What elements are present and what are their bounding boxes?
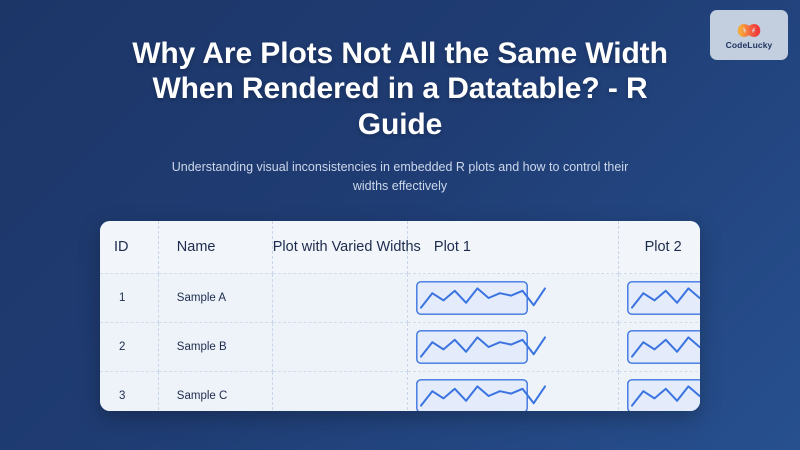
column-header-id[interactable]: ID (100, 221, 158, 273)
column-header-name[interactable]: Name (158, 221, 272, 273)
heading-block: Why Are Plots Not All the Same Width Whe… (110, 36, 690, 196)
cell-plot-with-varied-widths (272, 273, 407, 322)
cell-plot-2[interactable] (618, 371, 700, 411)
infinity-icon (732, 21, 766, 40)
cell-id: 3 (100, 371, 158, 411)
cell-plot-1[interactable] (407, 322, 618, 371)
page-subtitle: Understanding visual inconsistencies in … (160, 158, 640, 196)
table-header-row: ID Name Plot with Varied Widths Plot 1 P… (100, 221, 700, 273)
table-body: 1Sample A2Sample B3Sample C (100, 273, 700, 411)
cell-plot-2[interactable] (618, 273, 700, 322)
page-title: Why Are Plots Not All the Same Width Whe… (110, 36, 690, 142)
table-header: ID Name Plot with Varied Widths Plot 1 P… (100, 221, 700, 273)
table-row[interactable]: 1Sample A (100, 273, 700, 322)
cell-plot-1[interactable] (407, 273, 618, 322)
cell-plot-with-varied-widths (272, 322, 407, 371)
cell-plot-2[interactable] (618, 322, 700, 371)
cell-id: 2 (100, 322, 158, 371)
cell-plot-with-varied-widths (272, 371, 407, 411)
cell-name: Sample C (158, 371, 272, 411)
cell-id: 1 (100, 273, 158, 322)
column-header-plot-with-varied-widths[interactable]: Plot with Varied Widths (272, 221, 407, 273)
column-header-plot-2[interactable]: Plot 2 (618, 221, 700, 273)
table-row[interactable]: 2Sample B (100, 322, 700, 371)
cell-plot-1[interactable] (407, 371, 618, 411)
logo-text: CodeLucky (726, 41, 773, 50)
data-table: ID Name Plot with Varied Widths Plot 1 P… (100, 221, 700, 411)
column-header-plot-1[interactable]: Plot 1 (407, 221, 618, 273)
logo-badge[interactable]: CodeLucky (710, 10, 788, 60)
datatable-card: ID Name Plot with Varied Widths Plot 1 P… (100, 221, 700, 411)
cell-name: Sample B (158, 322, 272, 371)
cell-name: Sample A (158, 273, 272, 322)
table-row[interactable]: 3Sample C (100, 371, 700, 411)
